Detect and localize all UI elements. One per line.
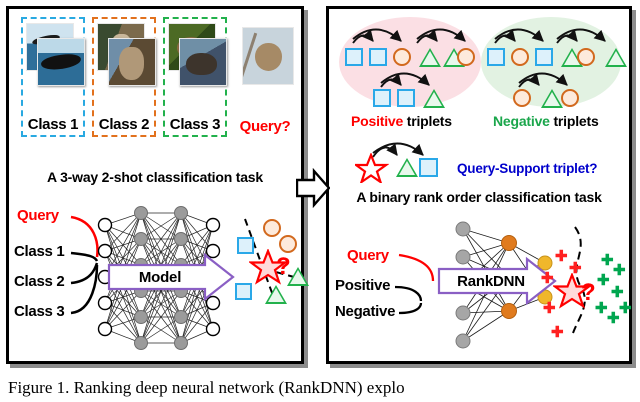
transition-arrow bbox=[296, 168, 330, 208]
negative-accent-word: Negative bbox=[493, 113, 550, 129]
right-network-diagram: Query Positive Negative bbox=[329, 215, 623, 357]
support-class-2: Class 2 bbox=[92, 17, 156, 137]
pos-t3-item-2 bbox=[397, 89, 415, 107]
green-cross-5: ✚ bbox=[595, 301, 608, 316]
pos-t2-item-3 bbox=[457, 48, 475, 66]
support-class-3: Class 3 bbox=[163, 17, 227, 137]
negative-rest-word: triplets bbox=[550, 113, 599, 129]
query-sample-group: Query? bbox=[233, 17, 297, 137]
wolf-portrait-photo bbox=[108, 38, 156, 86]
negative-connector bbox=[399, 303, 421, 313]
query-support-text: Query-Support triplet? bbox=[457, 161, 597, 176]
right-task-caption: A binary rank order classification task bbox=[329, 189, 629, 205]
right-query-connector bbox=[399, 255, 433, 281]
positive-triplets-title: Positive triplets bbox=[351, 113, 452, 129]
neg-t2-item-2 bbox=[577, 48, 595, 66]
query-support-square bbox=[419, 158, 438, 177]
pos-t1-item-2 bbox=[369, 48, 387, 66]
neg-t3-item-1 bbox=[513, 89, 531, 107]
green-cross-1: ✚ bbox=[601, 253, 614, 268]
red-cross-3: ✚ bbox=[541, 271, 554, 286]
sparrow-perched-photo bbox=[179, 38, 227, 86]
red-cross-1: ✚ bbox=[555, 249, 568, 264]
support-class-2-label: Class 2 bbox=[94, 116, 154, 133]
negative-triplets-title: Negative triplets bbox=[493, 113, 599, 129]
neg-t3-item-2 bbox=[541, 89, 563, 108]
neg-t1-item-1 bbox=[487, 48, 505, 66]
green-cross-4: ✚ bbox=[611, 285, 624, 300]
query-support-star bbox=[355, 153, 389, 183]
green-cross-2: ✚ bbox=[613, 263, 626, 278]
green-cross-6: ✚ bbox=[607, 311, 620, 326]
positive-rest-word: triplets bbox=[403, 113, 452, 129]
support-set-row: Class 1 Class 2 Class 3 bbox=[9, 13, 301, 141]
embedding-query-question: ? bbox=[276, 255, 291, 279]
neg-t1-item-2 bbox=[511, 48, 529, 66]
green-cross-7: ✚ bbox=[619, 301, 632, 316]
query-thumbnail bbox=[236, 21, 294, 99]
green-cross-3: ✚ bbox=[597, 273, 610, 288]
class-1-connector bbox=[71, 253, 97, 261]
pos-t1-item-3 bbox=[393, 48, 411, 66]
pos-t3-item-1 bbox=[373, 89, 391, 107]
left-network-diagram: Query Class 1 Class 2 Class 3 bbox=[9, 205, 295, 355]
query-connector bbox=[71, 217, 97, 257]
pos-t3-item-3 bbox=[423, 89, 445, 108]
embedding-circle-1 bbox=[263, 219, 281, 237]
query-support-triangle bbox=[396, 158, 418, 177]
query-label: Query? bbox=[233, 118, 297, 135]
class-1-thumbnails bbox=[26, 23, 84, 101]
support-class-1: Class 1 bbox=[21, 17, 85, 137]
pos-t2-item-1 bbox=[419, 48, 441, 67]
neg-t1-item-3 bbox=[535, 48, 553, 66]
class-2-thumbnails bbox=[97, 23, 155, 101]
red-cross-5: ✚ bbox=[551, 325, 564, 340]
few-shot-classification-panel: Class 1 Class 2 Class 3 bbox=[6, 6, 304, 364]
figure-root: Class 1 Class 2 Class 3 bbox=[0, 0, 640, 402]
class-2-connector bbox=[71, 263, 97, 283]
sparrow-branch-photo bbox=[242, 27, 294, 85]
support-class-1-label: Class 1 bbox=[23, 116, 83, 133]
positive-connector bbox=[395, 287, 421, 301]
neg-t2-item-3 bbox=[605, 48, 627, 67]
neg-t3-item-3 bbox=[561, 89, 579, 107]
rank-order-classification-panel: Positive triplets Negative tri bbox=[326, 6, 632, 364]
rankdnn-label: RankDNN bbox=[445, 269, 537, 293]
model-label: Model bbox=[117, 266, 203, 288]
support-class-3-label: Class 3 bbox=[165, 116, 225, 133]
albatross-ocean-photo bbox=[37, 38, 85, 86]
left-task-caption: A 3-way 2-shot classification task bbox=[9, 169, 301, 185]
class-3-thumbnails bbox=[168, 23, 226, 101]
pos-t1-item-1 bbox=[345, 48, 363, 66]
right-query-question: ? bbox=[581, 281, 596, 305]
positive-accent-word: Positive bbox=[351, 113, 403, 129]
figure-caption: Figure 1. Ranking deep neural network (R… bbox=[0, 378, 640, 398]
